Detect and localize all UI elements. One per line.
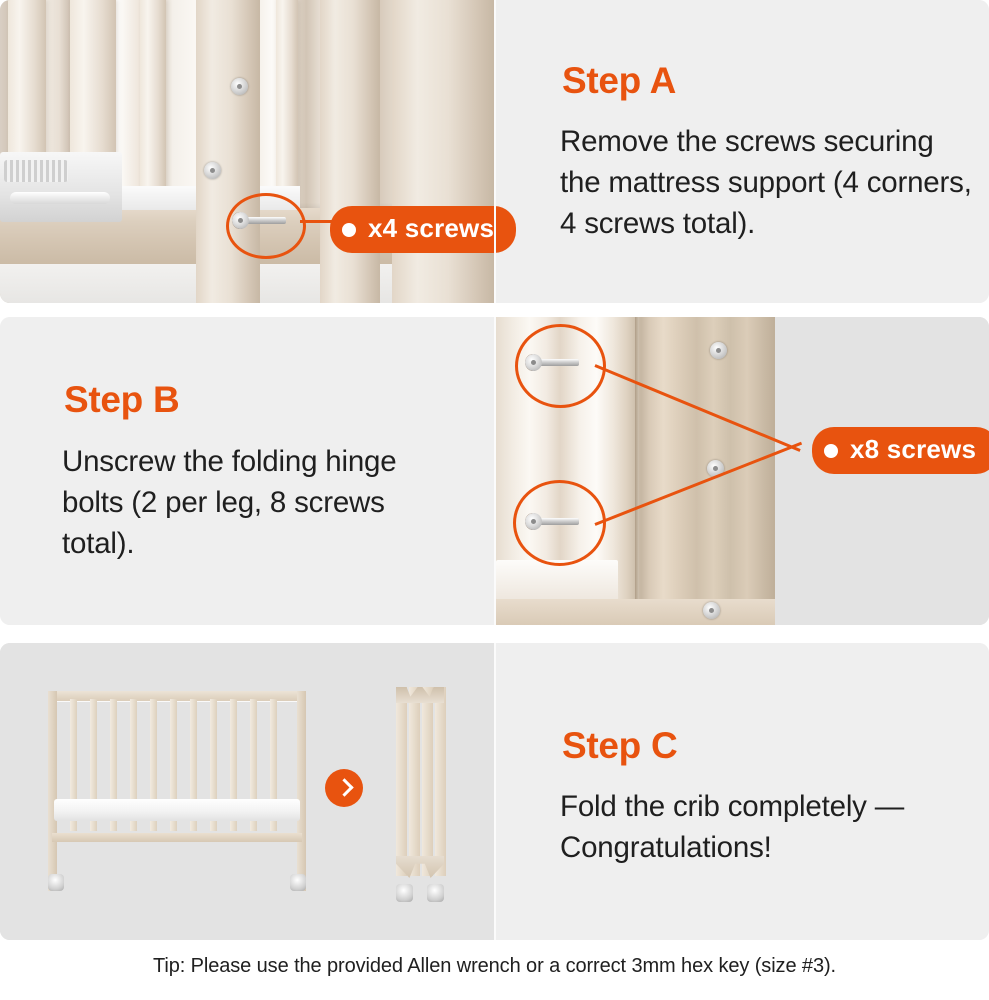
step-b-body: Unscrew the folding hinge bolts (2 per l… <box>62 441 462 564</box>
crib-slat <box>140 0 166 212</box>
crib-leg-post <box>320 0 380 303</box>
callout-badge-label: x8 screws <box>850 434 976 464</box>
crib-caster <box>48 874 64 891</box>
crib-open-photo <box>48 691 306 891</box>
crib-folded-photo <box>392 687 448 902</box>
folding-mechanism <box>0 152 122 222</box>
crib-leg-left <box>48 691 57 891</box>
infographic-sheet: x4 screws Step A Remove the screws secur… <box>0 0 989 1000</box>
callout-badge-label: x4 screws <box>368 213 494 243</box>
step-c-photo <box>0 643 494 940</box>
screw-head <box>231 78 248 95</box>
folded-top-notch <box>396 687 444 703</box>
panel-b-divider <box>494 317 496 625</box>
step-a-title: Step A <box>562 62 676 99</box>
step-a-photo <box>0 0 494 303</box>
crib-caster <box>396 884 413 902</box>
tip-text: Tip: Please use the provided Allen wrenc… <box>0 955 989 978</box>
bullet-dot-icon <box>824 444 838 458</box>
mattress-support-edge <box>496 560 618 600</box>
crib-mattress <box>54 799 300 821</box>
screw-head <box>710 342 727 359</box>
callout-badge-x8-screws: x8 screws <box>812 427 989 474</box>
folded-panel <box>422 687 433 876</box>
callout-ring-b-lower <box>513 480 606 566</box>
crib-post <box>196 0 260 303</box>
step-c-title: Step C <box>562 727 677 764</box>
crib-caster <box>427 884 444 902</box>
leg-seam <box>635 317 639 625</box>
callout-badge-x4-screws: x4 screws <box>330 206 516 253</box>
step-a-body: Remove the screws securing the mattress … <box>560 121 980 244</box>
crib-caster <box>290 874 306 891</box>
crib-slat <box>276 0 298 212</box>
screw-head <box>703 602 720 619</box>
crib-lower-rail <box>495 599 775 625</box>
folded-panel <box>435 687 446 876</box>
panel-a-divider <box>494 0 496 303</box>
callout-ring-a <box>226 193 306 259</box>
bullet-dot-icon <box>342 223 356 237</box>
crib-top-rail <box>48 691 306 701</box>
step-b-title: Step B <box>64 381 179 418</box>
crib-leg-right <box>297 691 306 891</box>
panel-c-divider <box>494 643 496 940</box>
crib-corner-post <box>392 0 494 303</box>
folded-panel <box>396 687 407 876</box>
crib-lower-rail <box>52 833 302 842</box>
screw-head <box>204 162 221 179</box>
chevron-right-icon <box>325 769 363 807</box>
step-c-body: Fold the crib completely — Congratulatio… <box>560 786 960 868</box>
folded-panel <box>409 687 420 876</box>
callout-ring-b-upper <box>515 324 606 408</box>
